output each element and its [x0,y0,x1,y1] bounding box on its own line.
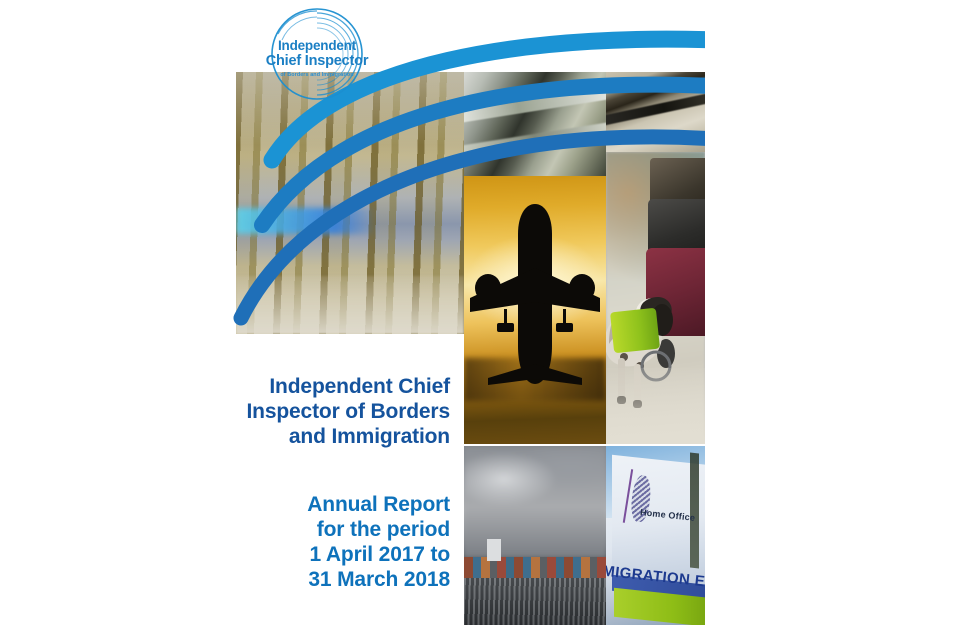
logo-line-2: Chief Inspector [258,53,376,69]
page-title-line-3: and Immigration [150,424,450,449]
report-subtitle: Annual Report for the period 1 April 201… [150,492,450,592]
detection-dog-photo [606,152,705,444]
escalator-photo-image [464,72,606,176]
report-subtitle-line-2: for the period [150,517,450,542]
dog-hi-vis-vest [610,307,660,352]
port-crane [487,539,501,560]
storm-clouds [464,446,606,557]
migration-enforcement-van-photo: Home Office MIGRATION ENF [606,446,705,625]
logo-line-3: of Borders and Immigration [258,72,376,78]
aircraft-silhouette-photo [464,176,606,444]
harbour-water [464,578,606,625]
icibi-logo: Independent Chief Inspector of Borders a… [258,6,376,104]
report-subtitle-line-4: 31 March 2018 [150,567,450,592]
page-title-line-1: Independent Chief [150,374,450,399]
terminal-floor [236,276,464,334]
report-cover: Home Office MIGRATION ENF Independent [0,0,960,640]
van-window-pillar [690,453,699,568]
logo-line-1: Independent [258,38,376,53]
terminal-blue-light [236,208,377,234]
report-subtitle-line-1: Annual Report [150,492,450,517]
aircraft-icon [464,176,606,444]
container-port-photo [464,446,606,625]
airport-terminal-photo [236,72,464,334]
page-title: Independent Chief Inspector of Borders a… [150,374,450,449]
shipping-containers [464,557,606,578]
tarmac-photo [606,72,705,152]
report-subtitle-line-3: 1 April 2017 to [150,542,450,567]
escalator-photo [464,72,606,176]
page-title-line-2: Inspector of Borders [150,399,450,424]
terminal-floor-reflection [606,368,705,444]
